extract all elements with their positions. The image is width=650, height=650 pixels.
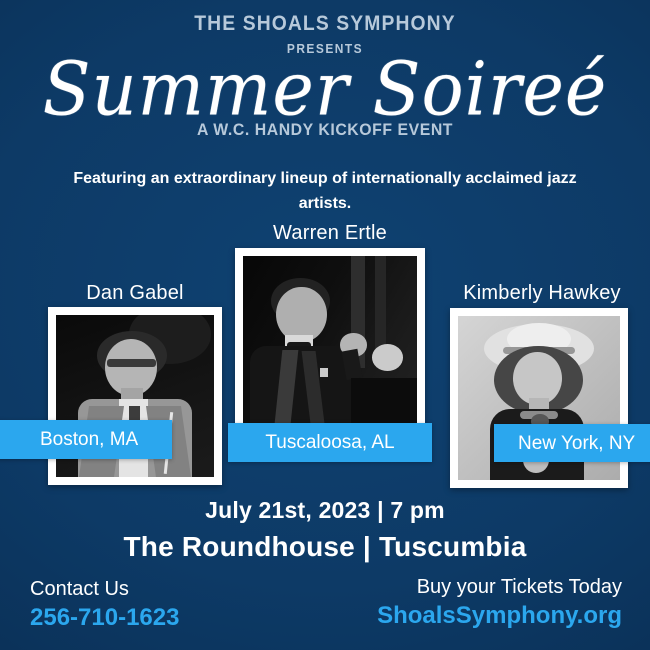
event-date: July 21st, 2023 | 7 pm (0, 497, 650, 524)
event-subtitle: A W.C. HANDY KICKOFF EVENT (23, 120, 628, 140)
artist-name: Warren Ertle (226, 222, 434, 245)
artist-location-badge: Boston, MA (0, 420, 172, 459)
event-poster: THE SHOALS SYMPHONY PRESENTS Summer Soir… (0, 0, 650, 650)
artist-name: Kimberly Hawkey (438, 282, 646, 305)
artist-photo-frame (235, 248, 425, 444)
artist-name: Dan Gabel (40, 282, 230, 305)
presenter-name: THE SHOALS SYMPHONY (26, 12, 624, 36)
tickets-label: Buy your Tickets Today (377, 576, 622, 599)
artist-location-badge: Tuscaloosa, AL (228, 423, 432, 462)
contact-label: Contact Us (30, 578, 179, 601)
contact-block: Contact Us 256-710-1623 (30, 578, 179, 632)
featuring-text: Featuring an extraordinary lineup of int… (65, 166, 585, 216)
artist-location-badge: New York, NY (494, 424, 650, 462)
tickets-block: Buy your Tickets Today ShoalsSymphony.or… (377, 576, 622, 630)
contact-phone[interactable]: 256-710-1623 (30, 604, 179, 632)
tickets-url[interactable]: ShoalsSymphony.org (377, 602, 622, 630)
artist-photo-warren-ertle (243, 256, 417, 436)
event-venue: The Roundhouse | Tuscumbia (0, 531, 650, 563)
